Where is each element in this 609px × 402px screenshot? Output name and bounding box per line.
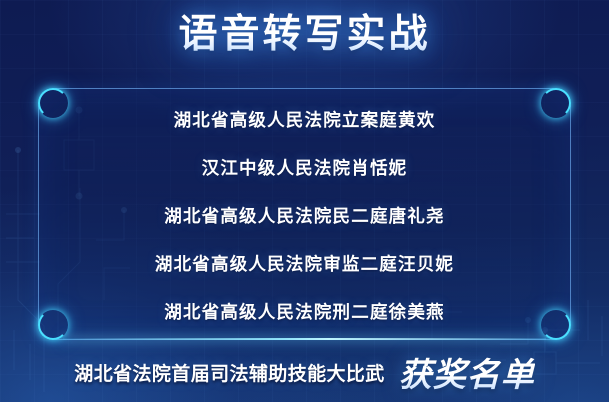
- list-item: 湖北省高级人民法院刑二庭徐美燕: [39, 287, 570, 335]
- winner-name: 汉江中级人民法院肖恬妮: [202, 155, 408, 180]
- poster-root: 语音转写实战 湖北省高级人民法院立案庭黄欢 汉江中级人民法院肖恬妮 湖北省高级人…: [0, 0, 609, 402]
- winners-list: 湖北省高级人民法院立案庭黄欢 汉江中级人民法院肖恬妮 湖北省高级人民法院民二庭唐…: [39, 89, 570, 339]
- winner-name: 湖北省高级人民法院刑二庭徐美燕: [164, 299, 445, 324]
- winner-name: 湖北省高级人民法院审监二庭汪贝妮: [155, 251, 454, 276]
- footer-event-title: 湖北省法院首届司法辅助技能大比武: [74, 359, 384, 386]
- winners-card: 湖北省高级人民法院立案庭黄欢 汉江中级人民法院肖恬妮 湖北省高级人民法院民二庭唐…: [38, 88, 571, 340]
- list-item: 汉江中级人民法院肖恬妮: [39, 143, 570, 191]
- poster-footer: 湖北省法院首届司法辅助技能大比武 获奖名单: [0, 348, 609, 396]
- list-item: 湖北省高级人民法院立案庭黄欢: [39, 95, 570, 143]
- list-item: 湖北省高级人民法院审监二庭汪贝妮: [39, 239, 570, 287]
- winner-name: 湖北省高级人民法院立案庭黄欢: [174, 107, 436, 132]
- list-item: 湖北省高级人民法院民二庭唐礼尧: [39, 191, 570, 239]
- footer-accent-title: 获奖名单: [399, 348, 535, 396]
- page-title: 语音转写实战: [178, 12, 430, 58]
- poster-title-wrap: 语音转写实战: [0, 12, 609, 58]
- winner-name: 湖北省高级人民法院民二庭唐礼尧: [164, 203, 445, 228]
